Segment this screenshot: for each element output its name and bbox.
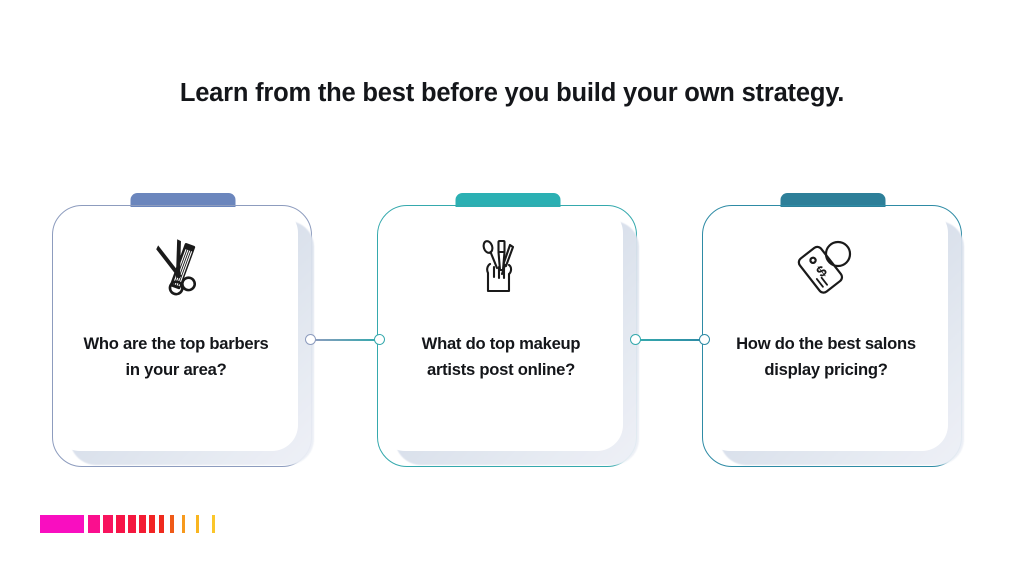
decorative-bar-strip [40,515,215,533]
card-barbers[interactable]: Who are the top barbers in your area? [52,193,314,469]
decorative-bar [196,515,199,533]
card-text-line1: Who are the top barbers [83,334,268,353]
connector-line [313,339,377,341]
card-pricing[interactable]: $ How do the best salons display pricing… [702,193,964,469]
decorative-bar [159,515,164,533]
connector-dot-left [305,334,316,345]
hand-makeup-brushes-icon [379,233,623,303]
price-tag-dollar-icon: $ [704,233,948,303]
decorative-bar [149,515,155,533]
connector-1-2 [305,332,385,348]
decorative-bar [88,515,100,533]
card-text-line1: How do the best salons [736,334,916,353]
decorative-bar [116,515,125,533]
connector-dot-right [699,334,710,345]
card-text-line1: What do top makeup [422,334,581,353]
slide-canvas: Learn from the best before you build you… [0,0,1024,576]
connector-2-3 [630,332,710,348]
scissors-comb-icon [54,233,298,303]
card-text-line2: in your area? [126,360,227,379]
card-text-pricing: How do the best salons display pricing? [710,331,942,382]
card-face-makeup: What do top makeup artists post online? [379,207,623,451]
card-text-line2: artists post online? [427,360,575,379]
connector-dot-right [374,334,385,345]
card-face-barbers: Who are the top barbers in your area? [54,207,298,451]
card-text-barbers: Who are the top barbers in your area? [60,331,292,382]
decorative-bar [212,515,215,533]
card-text-makeup: What do top makeup artists post online? [385,331,617,382]
decorative-bar [139,515,146,533]
decorative-bar [40,515,84,533]
card-face-pricing: $ How do the best salons display pricing… [704,207,948,451]
decorative-bar [182,515,185,533]
card-row: Who are the top barbers in your area? [0,0,1024,576]
decorative-bar [103,515,113,533]
card-text-line2: display pricing? [764,360,887,379]
decorative-bar [170,515,174,533]
connector-dot-left [630,334,641,345]
decorative-bar [128,515,136,533]
card-makeup[interactable]: What do top makeup artists post online? [377,193,639,469]
connector-line [638,339,702,341]
